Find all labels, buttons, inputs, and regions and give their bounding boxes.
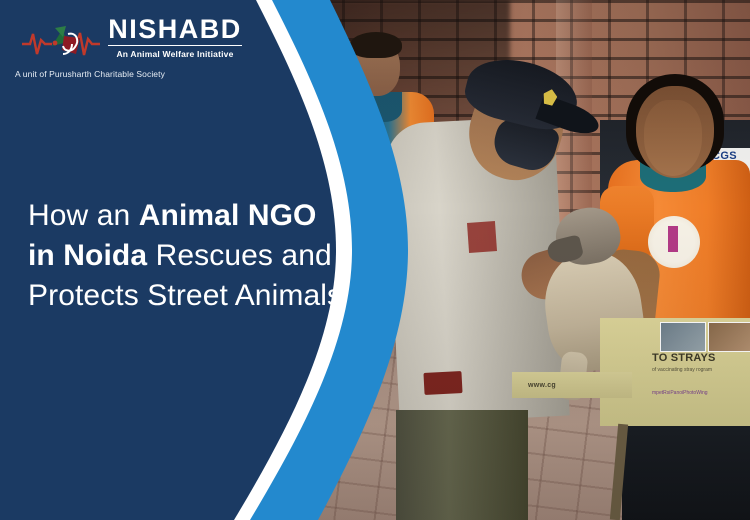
poster-photo-right <box>708 322 750 352</box>
headline-segment-2: Animal NGO <box>139 199 317 232</box>
brand-name: NISHABD <box>108 14 242 46</box>
headline-segment-3: in Noida <box>28 239 147 272</box>
brand-tagline-primary: An Animal Welfare Initiative <box>102 49 248 59</box>
poster-heading: TO STRAYS <box>652 352 716 364</box>
girl-tshirt-logo <box>648 216 700 268</box>
page-title: How an Animal NGO in Noida Rescues and P… <box>28 196 368 316</box>
brand-tagline-secondary: A unit of Purusharth Charitable Society <box>0 69 190 79</box>
headline-segment-5: Protects Street Animals <box>28 279 342 312</box>
nishabd-logo[interactable]: NISHABD An Animal Welfare Initiative A u… <box>18 14 248 79</box>
heartbeat-pulse-icon <box>22 20 100 64</box>
headline-segment-1: How an <box>28 199 139 232</box>
girl-face <box>644 100 702 176</box>
poster-photo-left <box>660 322 706 352</box>
logo-wordmark: NISHABD An Animal Welfare Initiative <box>102 14 248 59</box>
hero-banner: CGS HOSPITAL TO <box>0 0 750 520</box>
poster-body-text: of vaccinating stray rogram <box>652 366 748 374</box>
veterinarian-hem-patch <box>423 371 462 395</box>
poster-website-text: www.cg <box>528 382 556 389</box>
headline-segment-4: Rescues and <box>147 239 332 272</box>
veterinarian-sleeve-patch <box>467 221 497 253</box>
hero-content: NISHABD An Animal Welfare Initiative A u… <box>0 0 420 520</box>
poster-link-text: mpetRsiPanoiPhotoWing <box>652 390 708 396</box>
